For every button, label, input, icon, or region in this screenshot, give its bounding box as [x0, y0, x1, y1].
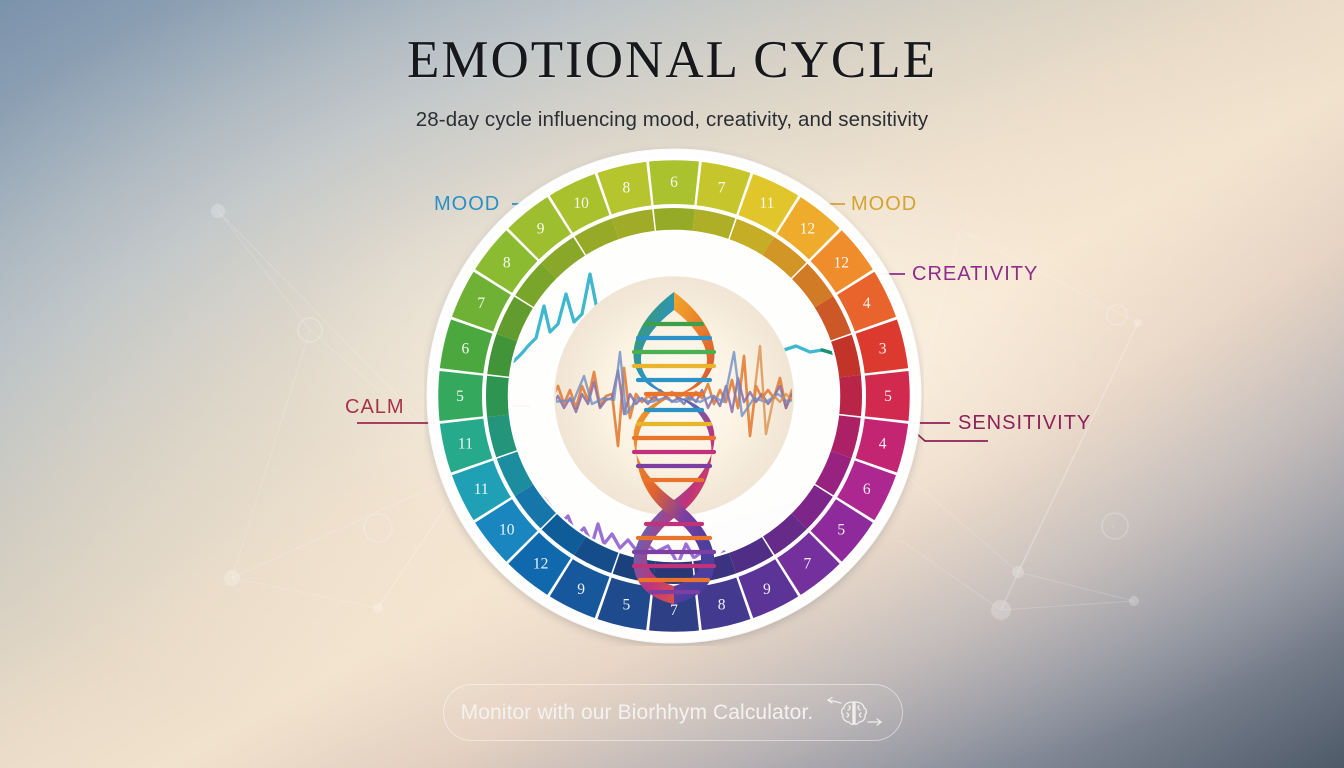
segment-value-label: 4: [863, 295, 871, 312]
segment-value-label: 4: [879, 436, 887, 453]
segment-value-label: 8: [503, 255, 511, 272]
segment-value-label: 12: [834, 255, 850, 272]
segment-value-label: 6: [863, 481, 871, 498]
page-title-text: EMOTIONAL CYCLE: [407, 31, 937, 89]
callout-label-mood-left: MOOD: [434, 193, 500, 216]
segment-value-label: 6: [670, 174, 678, 191]
segment-value-label: 7: [477, 295, 485, 312]
segment-value-label: 8: [623, 179, 631, 196]
emotional-cycle-wheel: 671112124354657987591210111156789108: [424, 146, 924, 646]
segment-value-label: 11: [458, 436, 473, 453]
segment-value-label: 7: [718, 179, 726, 196]
segment-value-label: 12: [533, 555, 549, 572]
segment-value-label: 11: [759, 195, 774, 212]
inner-ring-segment[interactable]: [654, 206, 696, 233]
biorhythm-calculator-cta[interactable]: Monitor with our Biorhhym Calculator.: [443, 684, 903, 741]
page-subtitle: 28-day cycle influencing mood, creativit…: [0, 108, 1344, 132]
segment-value-label: 7: [804, 555, 812, 572]
callout-label-calm: CALM: [345, 396, 405, 419]
page-title: EMOTIONAL CYCLE: [0, 34, 1344, 87]
segment-value-label: 10: [499, 521, 515, 538]
segment-value-label: 6: [462, 340, 470, 357]
segment-value-label: 9: [763, 581, 771, 598]
callout-label-sensitivity: SENSITIVITY: [958, 412, 1091, 435]
segment-value-label: 8: [718, 597, 726, 614]
brain-icon: [823, 696, 885, 730]
callout-label-creativity: CREATIVITY: [912, 263, 1038, 286]
segment-value-label: 3: [879, 340, 887, 357]
header: EMOTIONAL CYCLE 28-day cycle influencing…: [0, 0, 1344, 132]
segment-value-label: 5: [884, 388, 892, 405]
cta-label: Monitor with our Biorhhym Calculator.: [461, 701, 814, 725]
segment-value-label: 5: [456, 388, 464, 405]
inner-ring-segment[interactable]: [484, 376, 511, 418]
segment-value-label: 11: [474, 481, 489, 498]
segment-value-label: 12: [800, 221, 816, 238]
segment-value-label: 7: [670, 602, 678, 619]
callout-label-mood-right: MOOD: [851, 193, 917, 216]
segment-value-label: 5: [623, 597, 631, 614]
segment-value-label: 9: [577, 581, 585, 598]
segment-value-label: 9: [537, 221, 545, 238]
segment-value-label: 5: [837, 521, 845, 538]
inner-ring-segment[interactable]: [837, 375, 864, 417]
segment-value-label: 10: [573, 195, 589, 212]
